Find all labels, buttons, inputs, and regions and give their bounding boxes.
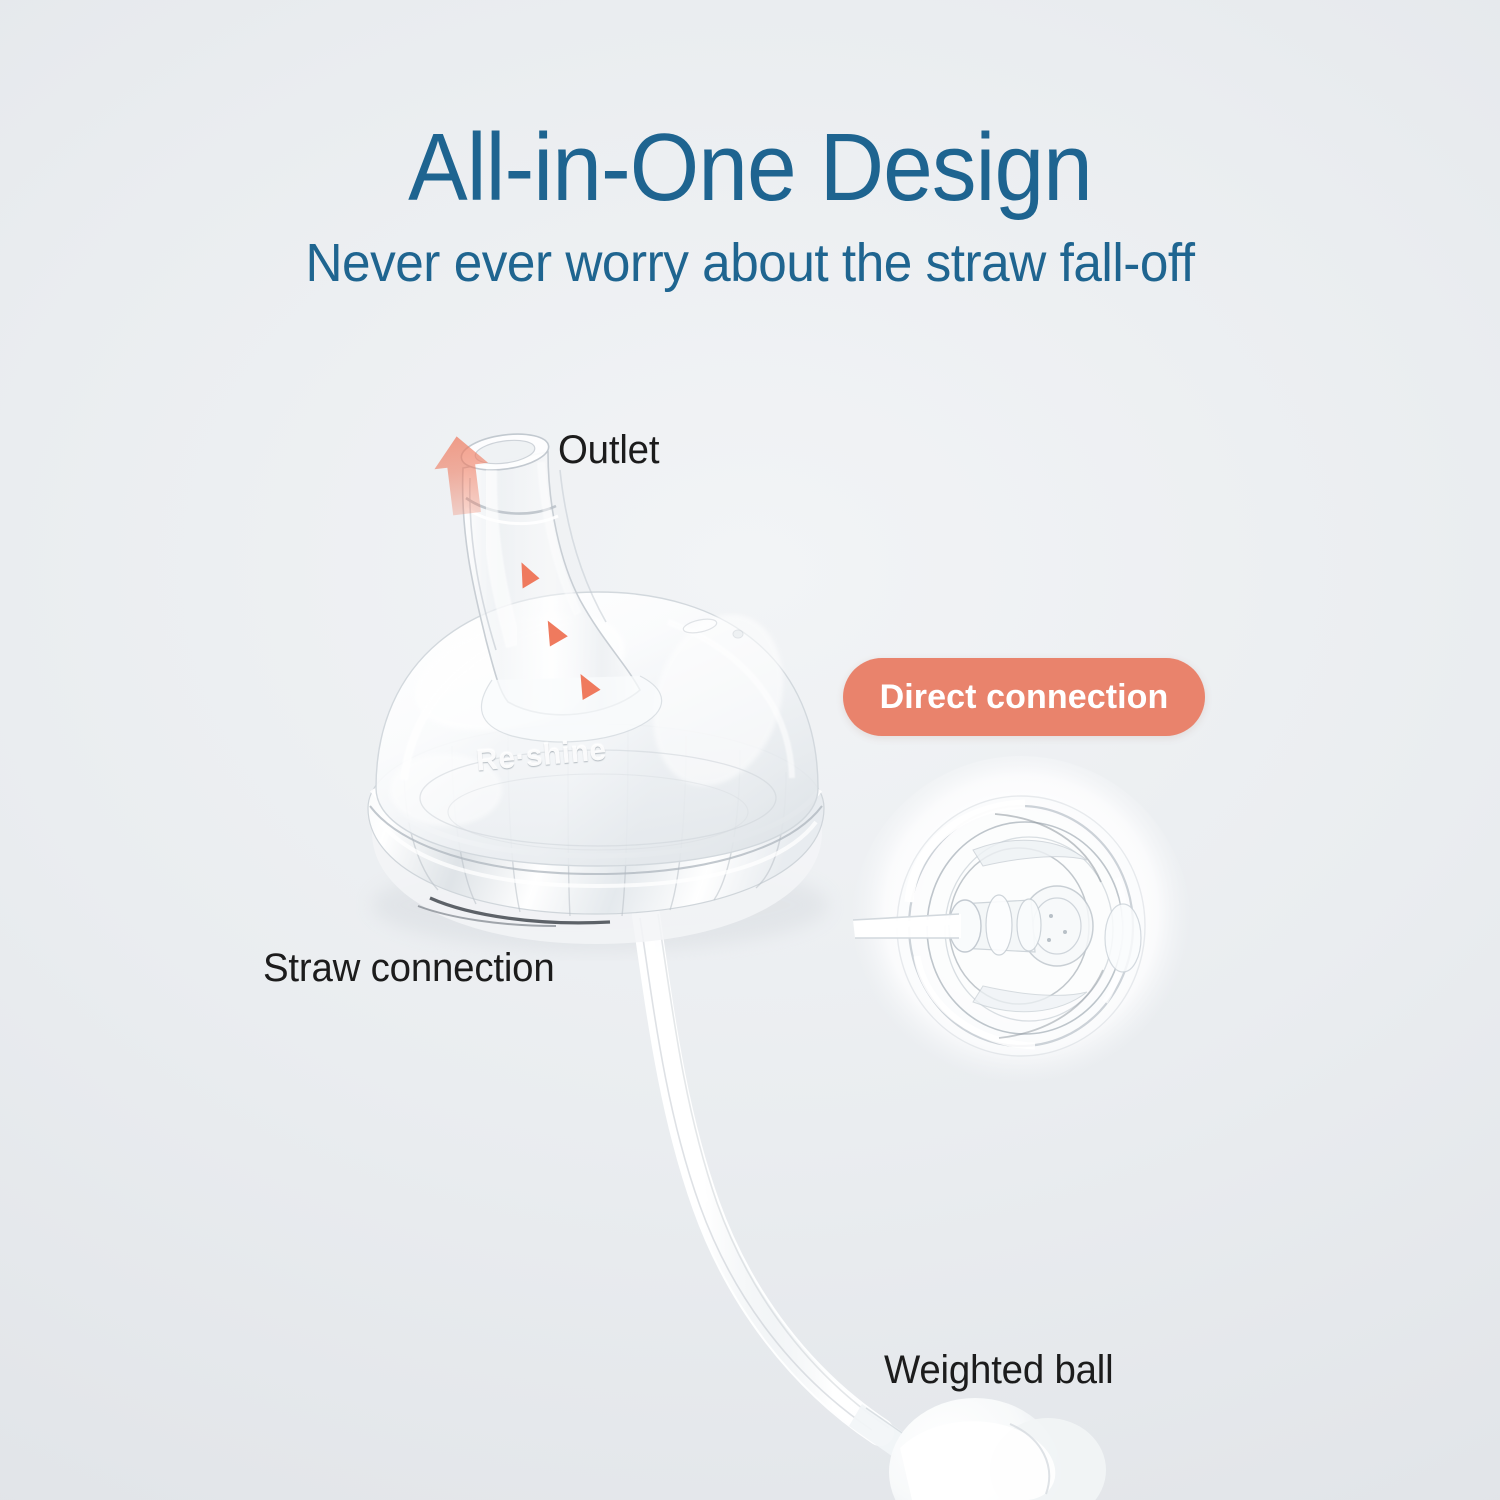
callout-label-straw-connection: Straw connection: [263, 946, 554, 991]
direct-connection-badge-label: Direct connection: [880, 678, 1169, 717]
page-title: All-in-One Design: [53, 118, 1448, 219]
header-block: All-in-One Design Never ever worry about…: [0, 118, 1500, 293]
infographic-canvas: Re·shine All-in-One Design Never ever wo…: [0, 0, 1500, 1500]
callout-label-outlet: Outlet: [558, 428, 659, 473]
page-subtitle: Never ever worry about the straw fall-of…: [38, 233, 1463, 293]
callout-label-weighted-ball: Weighted ball: [884, 1348, 1113, 1393]
direct-connection-inset: [851, 756, 1191, 1096]
weighted-ball: [889, 1398, 1106, 1500]
direct-connection-badge: Direct connection: [843, 658, 1205, 736]
